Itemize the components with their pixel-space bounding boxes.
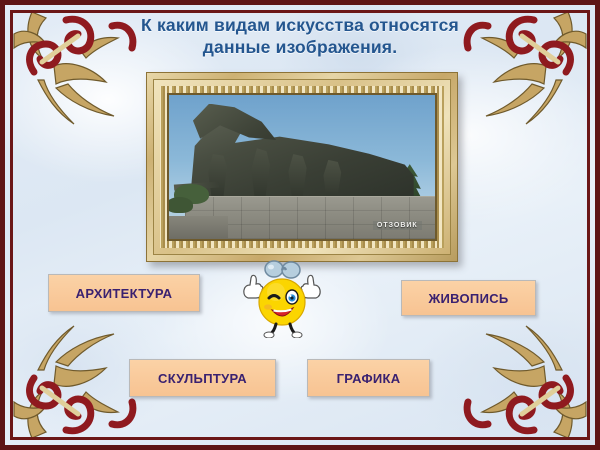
answer-label: АРХИТЕКТУРА [76,286,173,301]
answer-label: ГРАФИКА [337,371,401,386]
monument-plinth-step [169,216,228,239]
winking-smiley-thumbs-up-icon [236,258,328,338]
corner-ornament-bottom-right-icon [456,314,600,450]
title-line-2: данные изображения. [90,36,510,58]
title-line-1: К каким видам искусства относятся [141,15,459,35]
answer-button-painting[interactable]: ЖИВОПИСЬ [401,280,536,316]
answer-button-graphics[interactable]: ГРАФИКА [307,359,430,397]
answer-label: СКУЛЬПТУРА [158,371,247,386]
monument-photo: ОТЗОВИК [169,95,435,239]
photo-bush [169,197,193,213]
answer-button-sculpture[interactable]: СКУЛЬПТУРА [129,359,276,397]
corner-ornament-bottom-left-icon [0,314,144,450]
answer-button-architecture[interactable]: АРХИТЕКТУРА [48,274,200,312]
answer-label: ЖИВОПИСЬ [428,291,508,306]
photo-watermark: ОТЗОВИК [373,221,422,230]
quiz-slide: К каким видам искусства относятся данные… [0,0,600,450]
page-title: К каким видам искусства относятся данные… [90,14,510,59]
picture-frame: ОТЗОВИК [146,72,458,262]
